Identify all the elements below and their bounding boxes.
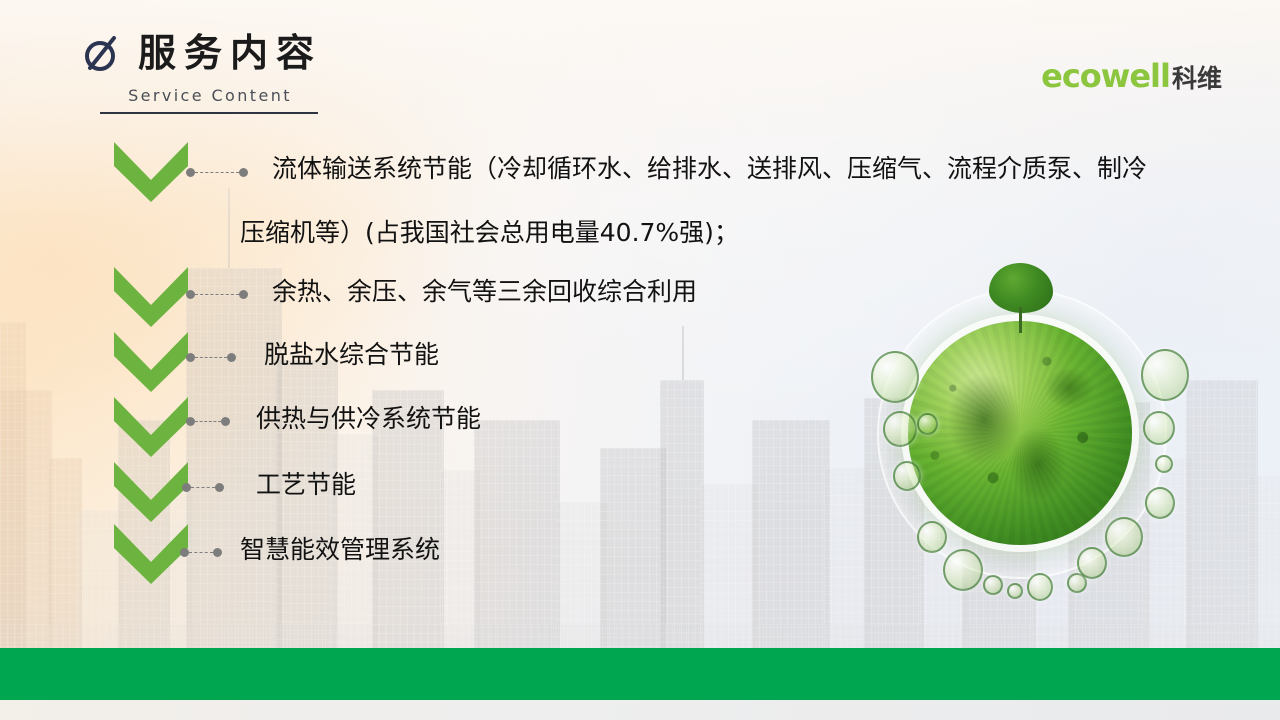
connector-line: [182, 481, 224, 493]
chevron-down-icon: [114, 395, 188, 457]
water-droplet-bubble: [883, 411, 917, 447]
connector-dot-end: [239, 290, 248, 299]
footer-base: [0, 700, 1280, 720]
chevron-down-icon: [114, 460, 188, 522]
connector-dot-end: [215, 483, 224, 492]
connector-dot-start: [186, 168, 195, 177]
water-droplet-bubble: [1027, 573, 1053, 601]
connector-dot-end: [239, 168, 248, 177]
presentation-slide: 服务内容 Service Content ecowell 科维 流体输送系统节能…: [0, 0, 1280, 720]
water-droplet-bubble: [1105, 517, 1143, 557]
green-globe-artwork: [855, 255, 1205, 615]
water-droplet-bubble: [1077, 547, 1107, 579]
water-droplet-bubble: [1143, 411, 1175, 445]
connector-dash: [189, 552, 213, 553]
water-droplet-bubble: [1007, 583, 1023, 599]
water-droplet-bubble: [917, 413, 938, 435]
list-item-text: 脱盐水综合节能: [264, 342, 439, 367]
water-droplet-bubble: [1145, 487, 1175, 519]
connector-dot-start: [186, 290, 195, 299]
list-item-text-line2: 压缩机等）(占我国社会总用电量40.7%强)；: [240, 220, 739, 245]
water-droplet-bubble: [871, 351, 919, 403]
connector-line: [186, 288, 248, 300]
water-droplet-bubble: [943, 549, 983, 591]
chevron-down-icon: [114, 140, 188, 202]
connector-dash: [195, 357, 227, 358]
connector-dot-end: [213, 548, 222, 557]
tree-trunk: [1019, 307, 1022, 333]
connector-dot-start: [182, 483, 191, 492]
list-item-text: 余热、余压、余气等三余回收综合利用: [272, 279, 697, 304]
list-item-text: 智慧能效管理系统: [240, 537, 440, 562]
connector-line: [186, 166, 248, 178]
list-item-text: 供热与供冷系统节能: [256, 406, 481, 431]
tree-icon: [989, 263, 1053, 313]
water-droplet-bubble: [1141, 349, 1189, 401]
connector-dash: [195, 172, 239, 173]
connector-line: [186, 415, 230, 427]
connector-dot-start: [186, 353, 195, 362]
footer-green-bar: [0, 648, 1280, 700]
water-droplet-bubble: [983, 575, 1003, 595]
chevron-down-icon: [114, 330, 188, 392]
water-droplet-bubble: [917, 521, 947, 553]
connector-dash: [191, 487, 215, 488]
connector-dot-start: [180, 548, 189, 557]
green-moss-globe: [908, 321, 1132, 545]
list-item-text: 工艺节能: [256, 472, 356, 497]
list-item-text: 流体输送系统节能（冷却循环水、给排水、送排风、压缩气、流程介质泵、制冷: [272, 156, 1147, 181]
water-droplet-bubble: [1155, 455, 1173, 473]
connector-line: [186, 351, 236, 363]
connector-line: [180, 546, 222, 558]
connector-dot-start: [186, 417, 195, 426]
connector-dot-end: [221, 417, 230, 426]
connector-dash: [195, 294, 239, 295]
connector-dot-end: [227, 353, 236, 362]
water-droplet-bubble: [893, 461, 921, 491]
chevron-down-icon: [114, 265, 188, 327]
chevron-down-icon: [114, 522, 188, 584]
connector-dash: [195, 421, 221, 422]
